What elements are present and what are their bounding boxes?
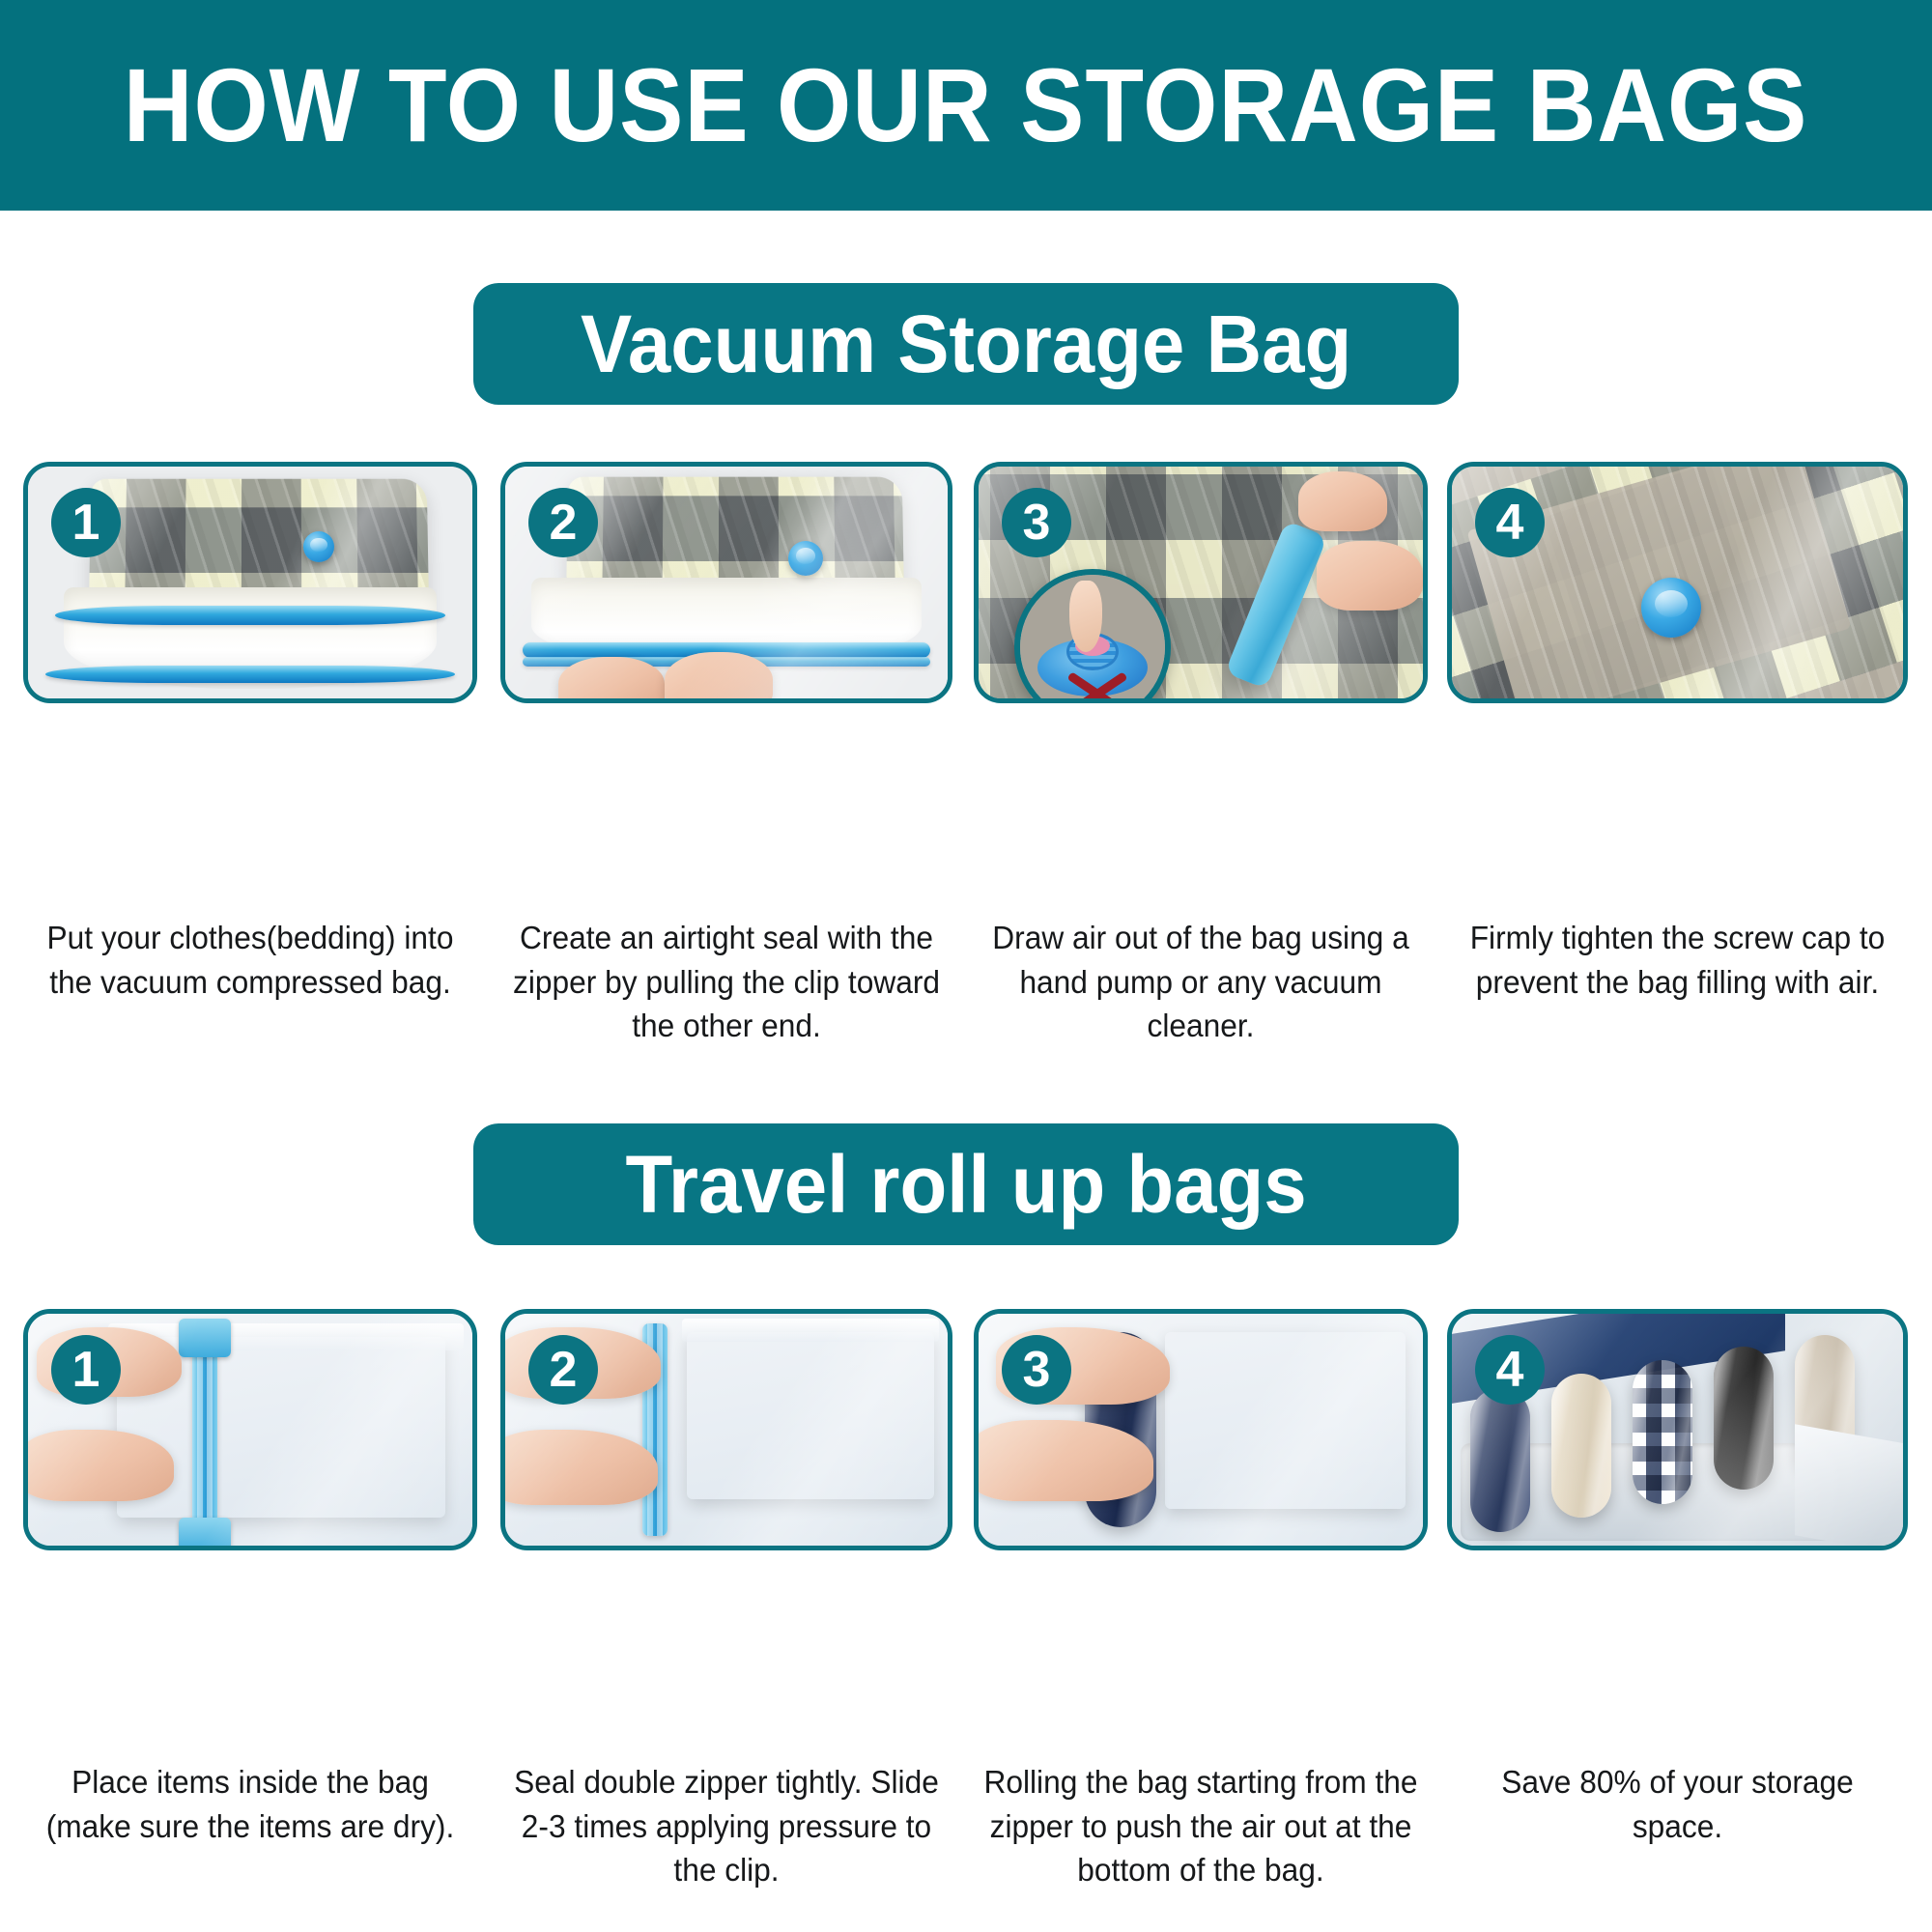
bag-valve-icon [788,541,823,576]
page-header-banner: HOW TO USE OUR STORAGE BAGS [0,0,1932,211]
step-number-badge: 2 [528,1335,598,1405]
step-caption-vacuum-4: Firmly tighten the screw cap to prevent … [1457,916,1899,1004]
hand-lower [28,1430,174,1501]
section-heading-label: Vacuum Storage Bag [581,303,1351,384]
step-number-badge: 4 [1475,1335,1545,1405]
step-number-badge: 2 [528,488,598,557]
zipper-clip-icon [179,1518,231,1546]
step-panel-travel-4[interactable]: 4 [1447,1309,1908,1550]
page-title: HOW TO USE OUR STORAGE BAGS [124,53,1808,157]
section-heading-travel-roll-up-bags: Travel roll up bags [473,1123,1459,1245]
step-caption-vacuum-3: Draw air out of the bag using a hand pum… [982,916,1418,1048]
prohibited-x-icon [1064,665,1131,698]
step-number-badge: 1 [51,488,121,557]
hand-grip [1317,541,1423,611]
hand-right [665,652,773,698]
step-number-badge: 3 [1002,1335,1071,1405]
step-panel-vacuum-3[interactable]: 3 [974,462,1428,703]
step-panel-travel-3[interactable]: 3 [974,1309,1428,1550]
step-caption-travel-3: Rolling the bag starting from the zipper… [982,1760,1418,1892]
valve-warning-inset [1014,569,1171,698]
step-caption-travel-2: Seal double zipper tightly. Slide 2-3 ti… [509,1760,943,1892]
step-panel-vacuum-2[interactable]: 2 [500,462,952,703]
step-caption-vacuum-1: Put your clothes(bedding) into the vacuu… [32,916,468,1004]
step-caption-travel-4: Save 80% of your storage space. [1457,1760,1899,1848]
step-caption-travel-1: Place items inside the bag (make sure th… [32,1760,468,1848]
step-panel-vacuum-4[interactable]: 4 [1447,462,1908,703]
step-panel-travel-2[interactable]: 2 [500,1309,952,1550]
step-caption-vacuum-2: Create an airtight seal with the zipper … [509,916,943,1048]
hand-lower [979,1420,1153,1501]
step-number-badge: 1 [51,1335,121,1405]
screw-cap-icon [1641,578,1701,638]
step-number-badge: 4 [1475,488,1545,557]
finger-icon [1069,581,1102,652]
infographic-page: HOW TO USE OUR STORAGE BAGS Vacuum Stora… [0,0,1932,1932]
section-heading-vacuum-storage-bag: Vacuum Storage Bag [473,283,1459,405]
zipper-clip-icon [179,1319,231,1357]
hand-left [558,657,665,698]
step-panel-travel-1[interactable]: 1 [23,1309,477,1550]
step-number-badge: 3 [1002,488,1071,557]
section-heading-label: Travel roll up bags [625,1144,1306,1225]
step-panel-vacuum-1[interactable]: 1 [23,462,477,703]
hand-top [1298,471,1387,531]
